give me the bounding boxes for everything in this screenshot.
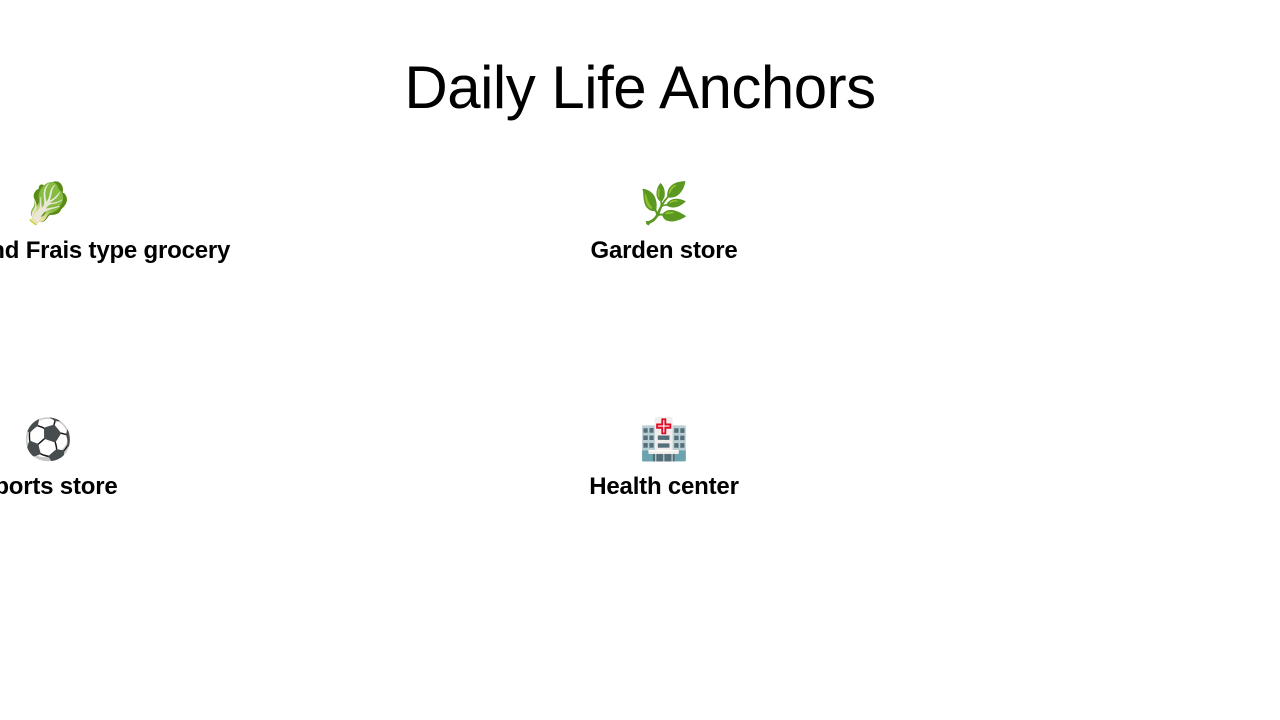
leafy-green-icon: 🥬 [23,180,73,228]
anchor-item-grocery[interactable]: 🥬 Fresh / Grand Frais type grocery [0,180,230,266]
anchor-item-health-center[interactable]: 🏥 Health center [589,416,738,502]
hospital-icon: 🏥 [639,416,689,464]
anchor-label-grocery: Fresh / Grand Frais type grocery [0,236,230,266]
anchor-grid: 🥬 Fresh / Grand Frais type grocery 🌿 Gar… [24,180,1256,540]
page-title: Daily Life Anchors [0,52,1280,124]
anchor-item-sports-store[interactable]: ⚽ Sports store [0,416,117,502]
herb-icon: 🌿 [639,180,689,228]
anchor-label-health-center: Health center [589,472,738,502]
slide-canvas: Daily Life Anchors 🥬 Fresh / Grand Frais… [0,0,1280,720]
anchor-label-garden-store: Garden store [591,236,738,266]
anchor-label-sports-store: Sports store [0,472,117,502]
anchor-item-garden-store[interactable]: 🌿 Garden store [591,180,738,266]
soccer-ball-icon: ⚽ [23,416,73,464]
